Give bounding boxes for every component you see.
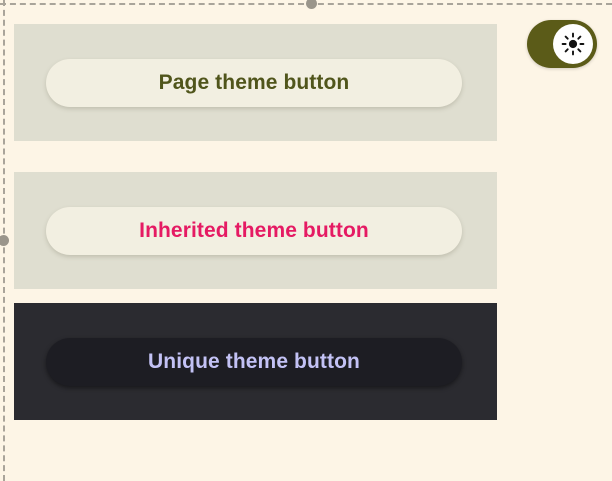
page-theme-button[interactable]: Page theme button <box>46 59 462 107</box>
theme-toggle-switch[interactable] <box>527 20 597 68</box>
inherited-theme-panel: Inherited theme button <box>14 172 497 289</box>
unique-theme-panel: Unique theme button <box>14 303 497 420</box>
resize-handle-top-icon[interactable] <box>306 0 317 9</box>
sun-icon <box>561 32 585 56</box>
page-theme-panel: Page theme button <box>14 24 497 141</box>
resize-handle-left-icon[interactable] <box>0 235 9 246</box>
inherited-theme-button[interactable]: Inherited theme button <box>46 207 462 255</box>
theme-toggle-knob <box>553 24 593 64</box>
unique-theme-button[interactable]: Unique theme button <box>46 338 462 386</box>
